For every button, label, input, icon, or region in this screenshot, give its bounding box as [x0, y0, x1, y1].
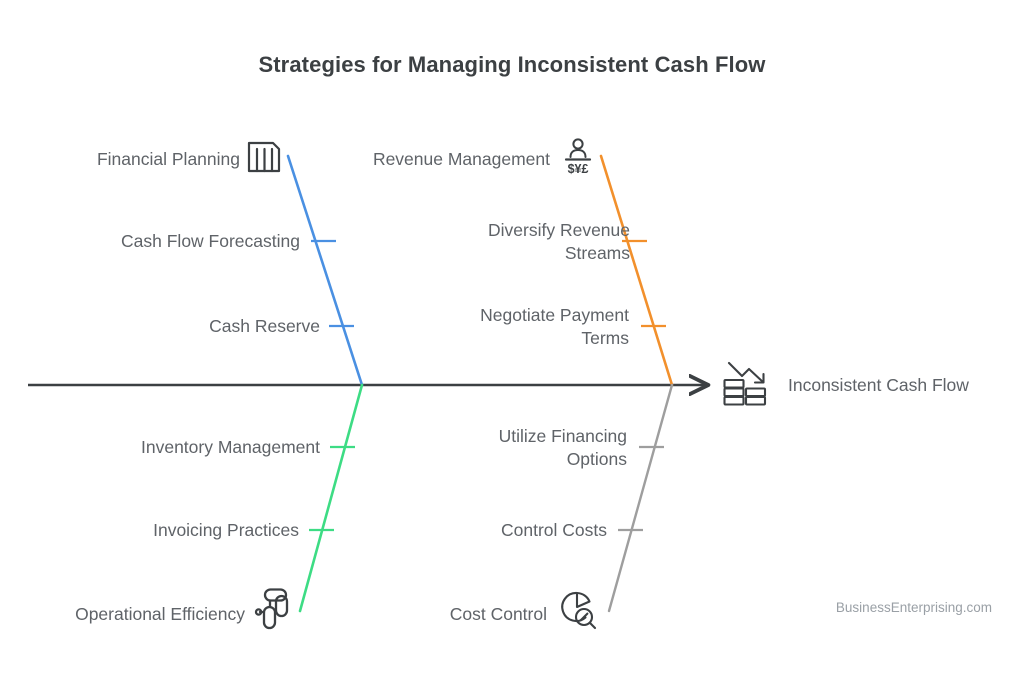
branch-line-revenue-management — [601, 156, 672, 385]
cause-label-invoicing-practices[interactable]: Invoicing Practices — [0, 519, 299, 542]
cause-label-negotiate-payment-terms[interactable]: Negotiate Payment Terms — [330, 304, 629, 350]
cause-label-cash-flow-forecasting[interactable]: Cash Flow Forecasting — [0, 230, 300, 253]
watermark: BusinessEnterprising.com — [836, 600, 992, 615]
category-label-financial-planning[interactable]: Financial Planning — [0, 148, 240, 171]
svg-text:$¥£: $¥£ — [568, 162, 589, 176]
cause-label-inventory-management[interactable]: Inventory Management — [0, 436, 320, 459]
effect-label[interactable]: Inconsistent Cash Flow — [788, 375, 969, 396]
cause-label-utilize-financing-options[interactable]: Utilize Financing Options — [330, 425, 627, 471]
cause-label-cash-reserve[interactable]: Cash Reserve — [10, 315, 320, 338]
branch-line-operational-efficiency — [300, 385, 362, 611]
pie-chart-magnifier-icon — [562, 593, 595, 628]
person-currency-icon: $¥£ — [566, 139, 590, 176]
category-label-operational-efficiency[interactable]: Operational Efficiency — [0, 603, 245, 626]
fishbone-diagram-canvas: Strategies for Managing Inconsistent Cas… — [0, 0, 1024, 679]
cause-label-control-costs[interactable]: Control Costs — [330, 519, 607, 542]
branch-line-financial-planning — [288, 156, 362, 385]
category-label-cost-control[interactable]: Cost Control — [250, 603, 547, 626]
branch-line-cost-control — [609, 385, 672, 611]
declining-coins-icon — [725, 363, 766, 405]
category-label-revenue-management[interactable]: Revenue Management — [240, 148, 550, 171]
cause-label-diversify-revenue-streams[interactable]: Diversify Revenue Streams — [330, 219, 630, 265]
